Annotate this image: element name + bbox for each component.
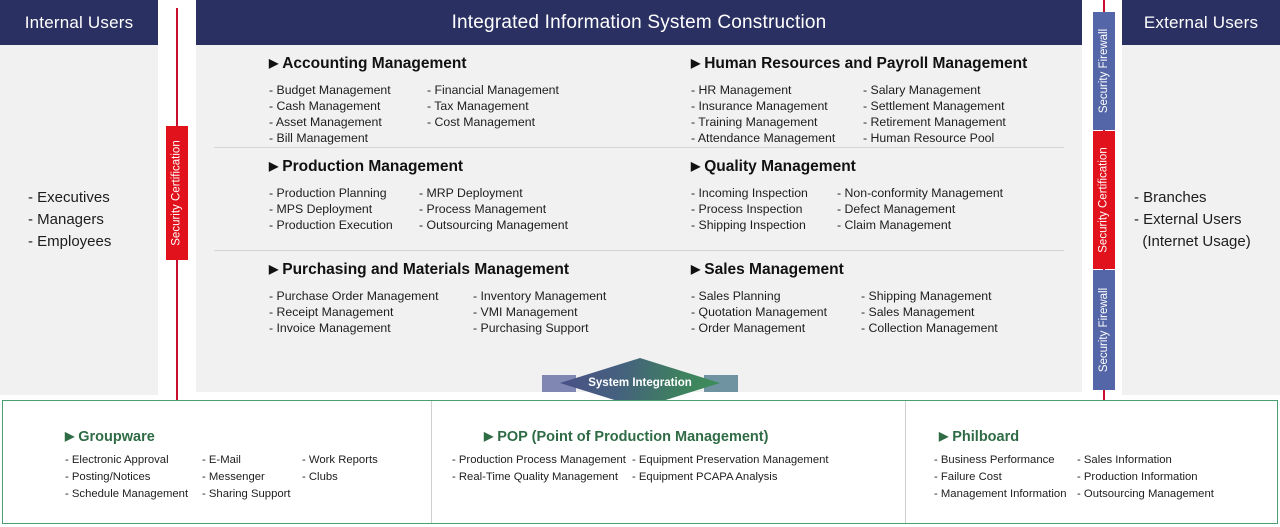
section-title: ▶POP (Point of Production Management) bbox=[452, 429, 905, 445]
supporting-systems-box: ▶Groupware - Electronic Approval - Posti… bbox=[2, 400, 1278, 524]
list-item: - Process Inspection bbox=[691, 201, 837, 217]
module-items: - Incoming Inspection - Process Inspecti… bbox=[691, 185, 1064, 233]
integrated-system-panel: Integrated Information System Constructi… bbox=[196, 0, 1082, 392]
list-item: - Production Process Management bbox=[452, 452, 632, 469]
section-items: - Electronic Approval - Posting/Notices … bbox=[65, 452, 431, 503]
list-item: - Defect Management bbox=[837, 201, 1003, 217]
module-production-management[interactable]: ▶Production Management - Production Plan… bbox=[214, 148, 639, 250]
list-item: - MRP Deployment bbox=[419, 185, 568, 201]
module-items: - Sales Planning - Quotation Management … bbox=[691, 288, 1064, 336]
items-column: - MRP Deployment - Process Management - … bbox=[419, 185, 568, 233]
list-item: - MPS Deployment bbox=[269, 201, 419, 217]
items-column: - Sales Information - Production Informa… bbox=[1077, 452, 1214, 503]
items-column: - Production Planning - MPS Deployment -… bbox=[269, 185, 419, 233]
external-users-panel: External Users - Branches - External Use… bbox=[1122, 0, 1280, 395]
module-title: ▶Production Management bbox=[269, 158, 639, 176]
module-grid: ▶Accounting Management - Budget Manageme… bbox=[196, 45, 1082, 392]
list-item: - VMI Management bbox=[473, 304, 606, 320]
list-item: - Claim Management bbox=[837, 217, 1003, 233]
list-item: - Business Performance bbox=[934, 452, 1077, 469]
list-item: - Sales Information bbox=[1077, 452, 1214, 469]
list-item: - Invoice Management bbox=[269, 320, 473, 336]
triangle-bullet-icon: ▶ bbox=[269, 56, 278, 70]
module-row: ▶Production Management - Production Plan… bbox=[214, 148, 1064, 251]
list-item: - Sales Management bbox=[861, 304, 998, 320]
list-item: - Inventory Management bbox=[473, 288, 606, 304]
module-title: ▶Quality Management bbox=[691, 158, 1064, 176]
list-item: - E-Mail bbox=[202, 452, 302, 469]
items-column: - HR Management - Insurance Management -… bbox=[691, 82, 863, 146]
triangle-bullet-icon: ▶ bbox=[484, 429, 493, 443]
items-column: - Business Performance - Failure Cost - … bbox=[934, 452, 1077, 503]
list-item: - Real-Time Quality Management bbox=[452, 469, 632, 486]
section-groupware[interactable]: ▶Groupware - Electronic Approval - Posti… bbox=[3, 401, 431, 523]
module-items: - HR Management - Insurance Management -… bbox=[691, 82, 1064, 146]
items-column: - Inventory Management - VMI Management … bbox=[473, 288, 606, 336]
triangle-bullet-icon: ▶ bbox=[269, 262, 278, 276]
items-column: - Electronic Approval - Posting/Notices … bbox=[65, 452, 202, 503]
list-item: - Settlement Management bbox=[863, 98, 1006, 114]
list-item: - Failure Cost bbox=[934, 469, 1077, 486]
list-item: - Incoming Inspection bbox=[691, 185, 837, 201]
section-items: - Business Performance - Failure Cost - … bbox=[934, 452, 1277, 503]
list-item: - Non-conformity Management bbox=[837, 185, 1003, 201]
list-item: - Attendance Management bbox=[691, 130, 863, 146]
section-title: ▶Philboard bbox=[934, 429, 1277, 445]
list-item: - Budget Management bbox=[269, 82, 427, 98]
system-integration-label: System Integration bbox=[560, 358, 720, 408]
triangle-bullet-icon: ▶ bbox=[939, 429, 948, 443]
list-item: - Sales Planning bbox=[691, 288, 861, 304]
list-item: - External Users bbox=[1134, 209, 1280, 231]
items-column: - Non-conformity Management - Defect Man… bbox=[837, 185, 1003, 233]
list-item: - Order Management bbox=[691, 320, 861, 336]
list-item: - Outsourcing Management bbox=[419, 217, 568, 233]
list-item: - Salary Management bbox=[863, 82, 1006, 98]
items-column: - Work Reports - Clubs bbox=[302, 452, 378, 503]
list-item: - Receipt Management bbox=[269, 304, 473, 320]
module-title: ▶Human Resources and Payroll Management bbox=[691, 55, 1064, 73]
internal-users-header: Internal Users bbox=[0, 0, 158, 45]
module-title: ▶Accounting Management bbox=[269, 55, 639, 73]
items-column: - Production Process Management - Real-T… bbox=[452, 452, 632, 486]
list-item: - Cash Management bbox=[269, 98, 427, 114]
list-item: - Financial Management bbox=[427, 82, 559, 98]
list-item: - Shipping Management bbox=[861, 288, 998, 304]
module-title: ▶Purchasing and Materials Management bbox=[269, 261, 639, 279]
list-item: - Production Planning bbox=[269, 185, 419, 201]
list-item: - Executives bbox=[28, 187, 158, 209]
list-item: - Work Reports bbox=[302, 452, 378, 469]
list-item: - Process Management bbox=[419, 201, 568, 217]
triangle-bullet-icon: ▶ bbox=[65, 429, 74, 443]
list-item: - Schedule Management bbox=[65, 486, 202, 503]
module-row: ▶Accounting Management - Budget Manageme… bbox=[214, 45, 1064, 148]
internal-users-list: - Executives - Managers - Employees bbox=[0, 45, 158, 395]
items-column: - Budget Management - Cash Management - … bbox=[269, 82, 427, 146]
module-sales-management[interactable]: ▶Sales Management - Sales Planning - Quo… bbox=[639, 251, 1064, 354]
list-item: - Purchasing Support bbox=[473, 320, 606, 336]
list-item: - Insurance Management bbox=[691, 98, 863, 114]
triangle-bullet-icon: ▶ bbox=[691, 56, 700, 70]
section-philboard[interactable]: ▶Philboard - Business Performance - Fail… bbox=[905, 401, 1277, 523]
list-item: - Clubs bbox=[302, 469, 378, 486]
module-row: ▶Purchasing and Materials Management - P… bbox=[214, 251, 1064, 354]
list-item: - Shipping Inspection bbox=[691, 217, 837, 233]
module-items: - Production Planning - MPS Deployment -… bbox=[269, 185, 639, 233]
section-title: ▶Groupware bbox=[65, 429, 431, 445]
list-item: - Asset Management bbox=[269, 114, 427, 130]
list-item: - Production Execution bbox=[269, 217, 419, 233]
section-items: - Production Process Management - Real-T… bbox=[452, 452, 905, 486]
list-item: - HR Management bbox=[691, 82, 863, 98]
internal-users-panel: Internal Users - Executives - Managers -… bbox=[0, 0, 158, 395]
list-item: - Equipment Preservation Management bbox=[632, 452, 829, 469]
items-column: - Purchase Order Management - Receipt Ma… bbox=[269, 288, 473, 336]
list-item: - Employees bbox=[28, 231, 158, 253]
list-item: - Cost Management bbox=[427, 114, 559, 130]
list-item: - Sharing Support bbox=[202, 486, 302, 503]
list-item: - Managers bbox=[28, 209, 158, 231]
external-users-list: - Branches - External Users (Internet Us… bbox=[1122, 45, 1280, 395]
list-item: - Electronic Approval bbox=[65, 452, 202, 469]
triangle-bullet-icon: ▶ bbox=[691, 262, 700, 276]
module-quality-management[interactable]: ▶Quality Management - Incoming Inspectio… bbox=[639, 148, 1064, 250]
items-column: - Financial Management - Tax Management … bbox=[427, 82, 559, 146]
list-item: - Production Information bbox=[1077, 469, 1214, 486]
module-items: - Budget Management - Cash Management - … bbox=[269, 82, 639, 146]
security-certification-label: Security Certification bbox=[171, 140, 183, 245]
system-integration-badge: System Integration bbox=[560, 358, 720, 408]
items-column: - Sales Planning - Quotation Management … bbox=[691, 288, 861, 336]
list-item: (Internet Usage) bbox=[1134, 231, 1280, 253]
module-accounting-management[interactable]: ▶Accounting Management - Budget Manageme… bbox=[214, 45, 639, 147]
list-item: - Outsourcing Management bbox=[1077, 486, 1214, 503]
security-certification-bar-right: Security Certification bbox=[1093, 131, 1115, 269]
list-item: - Equipment PCAPA Analysis bbox=[632, 469, 829, 486]
list-item: - Messenger bbox=[202, 469, 302, 486]
items-column: - E-Mail - Messenger - Sharing Support bbox=[202, 452, 302, 503]
items-column: - Shipping Management - Sales Management… bbox=[861, 288, 998, 336]
list-item: - Quotation Management bbox=[691, 304, 861, 320]
external-users-header: External Users bbox=[1122, 0, 1280, 45]
module-purchasing-and-materials-management[interactable]: ▶Purchasing and Materials Management - P… bbox=[214, 251, 639, 354]
module-title: ▶Sales Management bbox=[691, 261, 1064, 279]
list-item: - Collection Management bbox=[861, 320, 998, 336]
list-item: - Branches bbox=[1134, 187, 1280, 209]
list-item: - Tax Management bbox=[427, 98, 559, 114]
items-column: - Equipment Preservation Management - Eq… bbox=[632, 452, 829, 486]
list-item: - Retirement Management bbox=[863, 114, 1006, 130]
items-column: - Incoming Inspection - Process Inspecti… bbox=[691, 185, 837, 233]
list-item: - Bill Management bbox=[269, 130, 427, 146]
security-firewall-bar-bottom: Security Firewall bbox=[1093, 270, 1115, 390]
security-certification-bar-left: Security Certification bbox=[166, 126, 188, 260]
list-item: - Posting/Notices bbox=[65, 469, 202, 486]
page-title: Integrated Information System Constructi… bbox=[196, 0, 1082, 45]
security-firewall-label: Security Firewall bbox=[1098, 288, 1110, 372]
list-item: - Training Management bbox=[691, 114, 863, 130]
triangle-bullet-icon: ▶ bbox=[269, 159, 278, 173]
items-column: - Salary Management - Settlement Managem… bbox=[863, 82, 1006, 146]
list-item: - Management Information bbox=[934, 486, 1077, 503]
security-firewall-label: Security Firewall bbox=[1098, 29, 1110, 113]
security-firewall-bar-top: Security Firewall bbox=[1093, 12, 1115, 130]
module-items: - Purchase Order Management - Receipt Ma… bbox=[269, 288, 639, 336]
list-item: - Human Resource Pool bbox=[863, 130, 1006, 146]
module-human-resources-and-payroll-management[interactable]: ▶Human Resources and Payroll Management … bbox=[639, 45, 1064, 147]
section-pop[interactable]: ▶POP (Point of Production Management) - … bbox=[431, 401, 905, 523]
list-item: - Purchase Order Management bbox=[269, 288, 473, 304]
security-certification-label: Security Certification bbox=[1098, 147, 1110, 252]
triangle-bullet-icon: ▶ bbox=[691, 159, 700, 173]
